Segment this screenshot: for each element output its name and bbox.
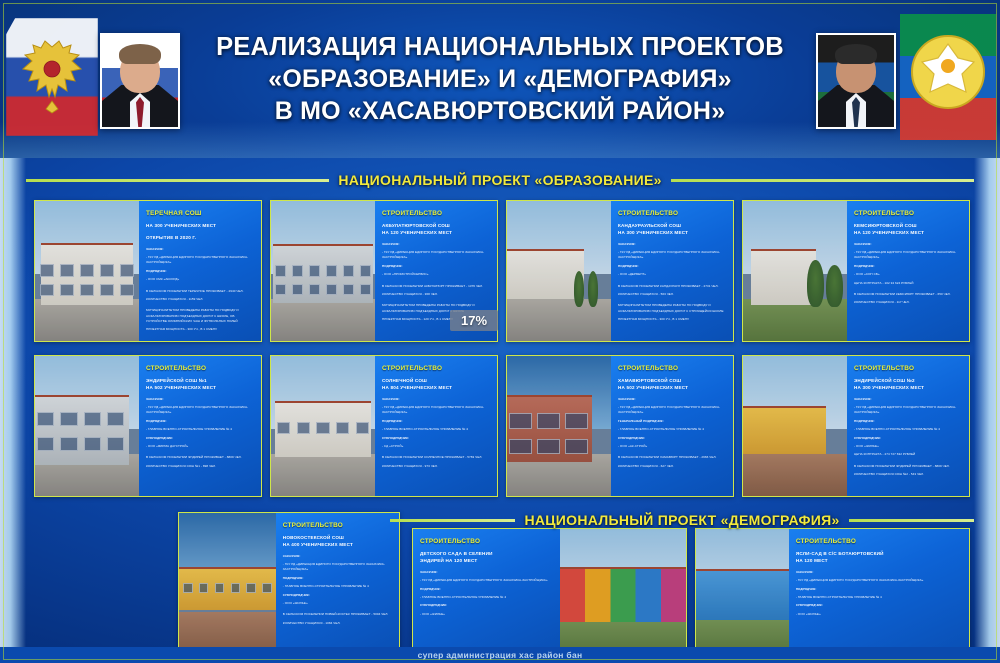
poster-header: РЕАЛИЗАЦИЯ НАЦИОНАЛЬНЫХ ПРОЕКТОВ «ОБРАЗО… [0, 0, 1000, 158]
value-customer: - ГКУ РД «ДИРЕКЦИЯ ЕДИНОГО ГОСУДАРСТВЕНН… [618, 250, 727, 260]
card-subtitle: КЕМСИЮРТОВСКОЙ СОШ НА 120 УЧЕНИЧЕСКИХ МЕ… [854, 223, 963, 237]
title-line-1: РЕАЛИЗАЦИЯ НАЦИОНАЛЬНЫХ ПРОЕКТОВ [200, 31, 800, 64]
value-subcontractor: - ООО «ЖИЛЬЕ» [420, 612, 554, 617]
value-contractor: - ГЛАВНОЕ ВОЕННО-СТРОИТЕЛЬНОЕ УПРАВЛЕНИЕ… [146, 427, 255, 432]
card-photo [696, 529, 789, 655]
value-customer: - ГКУ РД «ДИРЕКЦИЯ ЕДИНОГО ГОСУДАРСТВЕНН… [796, 578, 963, 583]
value-subcontractor: - ООО «ЖИЛЬЕ» [796, 612, 963, 617]
label-customer: ЗАКАЗЧИК: [420, 570, 554, 575]
footer-text: супер администрация хас район бан [418, 650, 583, 660]
card-title: СТРОИТЕЛЬСТВО [420, 537, 554, 547]
project-card-novokostekskaya[interactable]: СТРОИТЕЛЬСТВО НОВОКОСТЕКСКОЙ СОШ НА 400 … [178, 512, 400, 656]
value-capacity: ЦЕНА КОНТРАКТА - 102 34 624 РУБЛЕЙ [854, 281, 963, 286]
title-line-2: «ОБРАЗОВАНИЕ» И «ДЕМОГРАФИЯ» [200, 63, 800, 95]
value-contractor: - ГЛАВНОЕ ВОЕННО-СТРОИТЕЛЬНОЕ УПРАВЛЕНИЕ… [382, 427, 491, 432]
label-contractor: ПОДРЯДЧИК: [382, 419, 491, 424]
label-customer: ЗАКАЗЧИК: [146, 397, 255, 402]
label-contractor: ПОДРЯДЧИК: [283, 576, 393, 581]
card-title: СТРОИТЕЛЬСТВО [382, 364, 491, 374]
value-population: В СЕЛЬСКОМ ПОСЕЛЕНИИ ХАМАВЮРТ ПРОЖИВАЕТ … [618, 455, 727, 460]
value-contractor: - ООО СМК «АККОРД» [146, 277, 255, 282]
value-customer: - ГКУ РД «ДИРЕКЦИЯ ЕДИНОГО ГОСУДАРСТВЕНН… [283, 562, 393, 572]
label-contractor: ПОДРЯДЧИК: [854, 264, 963, 269]
card-title: СТРОИТЕЛЬСТВО [382, 209, 491, 219]
card-subtitle: НОВОКОСТЕКСКОЙ СОШ НА 400 УЧЕНИЧЕСКИХ МЕ… [283, 535, 393, 549]
value-contractor: - ООО «СОН СБ» [854, 272, 963, 277]
label-contractor: ПОДРЯДЧИК: [618, 264, 727, 269]
project-card-endireyskaya-2[interactable]: СТРОИТЕЛЬСТВО ЭНДИРЕЙСКОЙ СОШ №2 НА 300 … [742, 355, 970, 497]
card-info: СТРОИТЕЛЬСТВО СОЛНЕЧНОЙ СОШ НА 804 УЧЕНИ… [375, 356, 497, 496]
card-title: СТРОИТЕЛЬСТВО [618, 209, 727, 219]
card-photo [507, 356, 611, 496]
label-contractor: ПОДРЯДЧИК: [796, 587, 963, 592]
project-card-terechnaya[interactable]: ТЕРЕЧНАЯ СОШ НА 300 УЧЕНИЧЕСКИХ МЕСТ ОТК… [34, 200, 262, 342]
label-contractor: ПОДРЯДЧИК: [854, 419, 963, 424]
card-title: СТРОИТЕЛЬСТВО [618, 364, 727, 374]
label-general-contractor: ГЕНЕРАЛЬНЫЙ ПОДРЯДЧИК: [618, 419, 727, 424]
label-contractor: ПОДРЯДЧИК: [146, 419, 255, 424]
card-subtitle: ДЕТСКОГО САДА В СЕЛЕНИИ ЭНДИРЕЙ НА 120 М… [420, 551, 554, 565]
value-customer: - ГКУ РД «ДИРЕКЦИЯ ЕДИНОГО ГОСУДАРСТВЕНН… [146, 255, 255, 265]
card-photo [560, 529, 686, 655]
card-info: СТРОИТЕЛЬСТВО ЯСЛИ-САД В С/С БОТАЮРТОВСК… [789, 529, 969, 655]
card-info: СТРОИТЕЛЬСТВО НОВОКОСТЕКСКОЙ СОШ НА 400 … [276, 513, 399, 655]
card-photo [743, 201, 847, 341]
card-photo [271, 201, 375, 341]
value-customer: - ГКУ РД «ДИРЕКЦИЯ ЕДИНОГО ГОСУДАРСТВЕНН… [854, 250, 963, 260]
project-card-kindergarten-endirey[interactable]: СТРОИТЕЛЬСТВО ДЕТСКОГО САДА В СЕЛЕНИИ ЭН… [412, 528, 687, 656]
value-students: КОЛИЧЕСТВО УЧАЩИХСЯ СОШ №1 - 898 ЧЕЛ. [146, 464, 255, 469]
label-customer: ЗАКАЗЧИК: [854, 397, 963, 402]
card-info: ТЕРЕЧНАЯ СОШ НА 300 УЧЕНИЧЕСКИХ МЕСТ ОТК… [139, 201, 261, 341]
label-customer: ЗАКАЗЧИК: [796, 570, 963, 575]
card-body: ЗАКАЗЧИК: - ГКУ РД «ДИРЕКЦИЯ ЕДИНОГО ГОС… [283, 554, 393, 626]
value-customer: - ГКУ РД «ДИРЕКЦИЯ ЕДИНОГО ГОСУДАРСТВЕНН… [618, 405, 727, 415]
card-body: ЗАКАЗЧИК: - ГКУ РД «ДИРЕКЦИЯ ЕДИНОГО ГОС… [796, 570, 963, 617]
card-info: СТРОИТЕЛЬСТВО ДЕТСКОГО САДА В СЕЛЕНИИ ЭН… [413, 529, 560, 655]
project-card-solnechnaya[interactable]: СТРОИТЕЛЬСТВО СОЛНЕЧНОЙ СОШ НА 804 УЧЕНИ… [270, 355, 498, 497]
label-subcontractor: СУБПОДРЯДЧИК: [796, 603, 963, 608]
label-subcontractor: СУБПОДРЯДЧИК: [854, 436, 963, 441]
label-customer: ЗАКАЗЧИК: [382, 242, 491, 247]
label-customer: ЗАКАЗЧИК: [382, 397, 491, 402]
value-customer: - ГКУ РД «ДИРЕКЦИЯ ЕДИНОГО ГОСУДАРСТВЕНН… [382, 405, 491, 415]
banner-rule-left [390, 519, 515, 522]
value-contractor: - ООО «ДЕРБЕНТ» [618, 272, 727, 277]
card-row-3: СТРОИТЕЛЬСТВО НОВОКОСТЕКСКОЙ СОШ НА 400 … [178, 512, 400, 656]
value-customer: - ГКУ РД «ДИРЕКЦИЯ ЕДИНОГО ГОСУДАРСТВЕНН… [420, 578, 554, 583]
value-subcontractor: - ООО «ФИРМА ДАГСТРОЙ» [146, 444, 255, 449]
value-contractor: - ГЛАВНОЕ ВОЕННО-СТРОИТЕЛЬНОЕ УПРАВЛЕНИЕ… [618, 427, 727, 432]
card-info: СТРОИТЕЛЬСТВО КЕМСИЮРТОВСКОЙ СОШ НА 120 … [847, 201, 969, 341]
progress-badge-akbulatyurtovskaya: 17% [450, 310, 498, 331]
section-banner-demography: НАЦИОНАЛЬНЫЙ ПРОЕКТ «ДЕМОГРАФИЯ» [390, 510, 974, 530]
label-customer: ЗАКАЗЧИК: [854, 242, 963, 247]
card-info: СТРОИТЕЛЬСТВО ЭНДИРЕЙСКОЙ СОШ №1 НА 502 … [139, 356, 261, 496]
value-contractor: - ГЛАВНОЕ ВОЕННО-СТРОИТЕЛЬНОЕ УПРАВЛЕНИЕ… [283, 584, 393, 589]
card-subtitle: ЯСЛИ-САД В С/С БОТАЮРТОВСКИЙ НА 120 МЕСТ [796, 551, 963, 565]
value-subcontractor: - ООО «ЖИЛЬЕ» [283, 601, 393, 606]
value-students: КОЛИЧЕСТВО УЧАЩИХСЯ - 627 ЧЕЛ. [618, 464, 727, 469]
card-extra: ОТКРЫТИЕ В 2020 г. [146, 235, 255, 242]
card-photo [179, 513, 276, 655]
label-customer: ЗАКАЗЧИК: [146, 247, 255, 252]
label-subcontractor: СУБПОДРЯДЧИК: [420, 603, 554, 608]
portrait-melikov [816, 33, 896, 129]
card-body: ЗАКАЗЧИК: - ГКУ РД «ДИРЕКЦИЯ ЕДИНОГО ГОС… [618, 397, 727, 469]
poster-title: РЕАЛИЗАЦИЯ НАЦИОНАЛЬНЫХ ПРОЕКТОВ «ОБРАЗО… [200, 31, 800, 128]
dagestan-coat-of-arms-icon [900, 14, 996, 140]
card-subtitle: ЭНДИРЕЙСКОЙ СОШ №2 НА 300 УЧЕНИЧЕСКИХ МЕ… [854, 378, 963, 392]
project-card-endireyskaya-1[interactable]: СТРОИТЕЛЬСТВО ЭНДИРЕЙСКОЙ СОШ №1 НА 502 … [34, 355, 262, 497]
label-subcontractor: СУБПОДРЯДЧИК: [146, 436, 255, 441]
label-contractor: ПОДРЯДЧИК: [146, 269, 255, 274]
card-info: СТРОИТЕЛЬСТВО ХАМАВЮРТОВСКОЙ СОШ НА 502 … [611, 356, 733, 496]
value-customer: - ГКУ РД «ДИРЕКЦИЯ ЕДИНОГО ГОСУДАРСТВЕНН… [382, 250, 491, 260]
card-photo [35, 356, 139, 496]
card-title: СТРОИТЕЛЬСТВО [146, 364, 255, 374]
value-subcontractor: - СД «СТРОЙ» [382, 444, 491, 449]
value-students: КОЛИЧЕСТВО УЧАЩИХСЯ - 1084 ЧЕЛ. [283, 621, 393, 626]
label-customer: ЗАКАЗЧИК: [283, 554, 393, 559]
card-body: ЗАКАЗЧИК: - ГКУ РД «ДИРЕКЦИЯ ЕДИНОГО ГОС… [146, 397, 255, 469]
project-card-kemsiyurtovskaya[interactable]: СТРОИТЕЛЬСТВО КЕМСИЮРТОВСКОЙ СОШ НА 120 … [742, 200, 970, 342]
section-banner-education-label: НАЦИОНАЛЬНЫЙ ПРОЕКТ «ОБРАЗОВАНИЕ» [338, 172, 661, 188]
value-students: КОЛИЧЕСТВО УЧАЩИХСЯ - 563 ЧЕЛ. [618, 292, 727, 297]
card-subtitle: КАНДАУРАУЛЬСКОЙ СОШ НА 300 УЧЕНИЧЕСКИХ М… [618, 223, 727, 237]
card-row-4: СТРОИТЕЛЬСТВО ДЕТСКОГО САДА В СЕЛЕНИИ ЭН… [412, 528, 970, 656]
value-population: В СЕЛЬСКОМ ПОСЕЛЕНИИ СОЛНЕЧНОЕ ПРОЖИВАЕТ… [382, 455, 491, 460]
card-title: ТЕРЕЧНАЯ СОШ [146, 209, 255, 219]
dagestan-emblem-eagle-icon [900, 14, 996, 140]
value-capacity: ЦЕНА КОНТРАКТА - 274 727 632 РУБЛЕЙ [854, 452, 963, 457]
card-subtitle: ХАМАВЮРТОВСКОЙ СОШ НА 502 УЧЕНИЧЕСКИХ МЕ… [618, 378, 727, 392]
card-subtitle: АКБУЛАТЮРТОВСКОЙ СОШ НА 120 УЧЕНИЧЕСКИХ … [382, 223, 491, 237]
value-students: КОЛИЧЕСТВО УЧАЩИХСЯ - 973 ЧЕЛ. [382, 464, 491, 469]
card-photo [743, 356, 847, 496]
label-contractor: ПОДРЯДЧИК: [420, 587, 554, 592]
card-photo [35, 201, 139, 341]
value-students: КОЛИЧЕСТВО УЧАЩИХСЯ - 1159 ЧЕЛ. [146, 297, 255, 302]
card-body: ЗАКАЗЧИК: - ГКУ РД «ДИРЕКЦИЯ ЕДИНОГО ГОС… [146, 247, 255, 333]
poster-footer: супер администрация хас район бан [0, 647, 1000, 663]
value-subcontractor: - ООО «ЖИЛЬЕ» [854, 444, 963, 449]
value-customer: - ГКУ РД «ДИРЕКЦИЯ ЕДИНОГО ГОСУДАРСТВЕНН… [146, 405, 255, 415]
value-contractor: - ГЛАВНОЕ ВОЕННО-СТРОИТЕЛЬНОЕ УПРАВЛЕНИЕ… [420, 595, 554, 600]
card-info: СТРОИТЕЛЬСТВО КАНДАУРАУЛЬСКОЙ СОШ НА 300… [611, 201, 733, 341]
poster-root: РЕАЛИЗАЦИЯ НАЦИОНАЛЬНЫХ ПРОЕКТОВ «ОБРАЗО… [0, 0, 1000, 663]
value-population: В СЕЛЬСКОМ ПОСЕЛЕНИИ КАНДАУРАУЛ ПРОЖИВАЕ… [618, 284, 727, 289]
banner-rule-right [849, 519, 974, 522]
value-students: КОЛИЧЕСТВО УЧАЩИХСЯ СОШ №2 - 543 ЧЕЛ. [854, 472, 963, 477]
project-card-kandauraulskaya[interactable]: СТРОИТЕЛЬСТВО КАНДАУРАУЛЬСКОЙ СОШ НА 300… [506, 200, 734, 342]
label-subcontractor: СУБПОДРЯДЧИК: [618, 436, 727, 441]
label-customer: ЗАКАЗЧИК: [618, 242, 727, 247]
russian-federation-coat-of-arms-icon [6, 18, 98, 136]
banner-rule-right [671, 179, 974, 182]
card-photo [507, 201, 611, 341]
card-body: ЗАКАЗЧИК: - ГКУ РД «ДИРЕКЦИЯ ЕДИНОГО ГОС… [420, 570, 554, 617]
label-subcontractor: СУБПОДРЯДЧИК: [283, 593, 393, 598]
value-population: В СЕЛЬСКОМ ПОСЕЛЕНИИ ЭНДИРЕЙ ПРОЖИВАЕТ -… [146, 455, 255, 460]
value-population: В СЕЛЬСКОМ ПОСЕЛЕНИИ ЭНДИРЕЙ ПРОЖИВАЕТ -… [854, 464, 963, 469]
value-population: В СЕЛЬСКОМ ПОСЕЛЕНИИ НОВЫЙ-КОСТЕК ПРОЖИВ… [283, 612, 393, 617]
section-banner-education: НАЦИОНАЛЬНЫЙ ПРОЕКТ «ОБРАЗОВАНИЕ» [26, 170, 974, 190]
section-banner-demography-label: НАЦИОНАЛЬНЫЙ ПРОЕКТ «ДЕМОГРАФИЯ» [524, 512, 839, 528]
label-customer: ЗАКАЗЧИК: [618, 397, 727, 402]
banner-rule-left [26, 179, 329, 182]
card-info: СТРОИТЕЛЬСТВО ЭНДИРЕЙСКОЙ СОШ №2 НА 300 … [847, 356, 969, 496]
card-title: СТРОИТЕЛЬСТВО [854, 364, 963, 374]
card-body: ЗАКАЗЧИК: - ГКУ РД «ДИРЕКЦИЯ ЕДИНОГО ГОС… [854, 242, 963, 306]
value-population: В СЕЛЬСКОМ ПОСЕЛЕНИИ ТЕРЕЧНОЕ ПРОЖИВАЕТ … [146, 289, 255, 294]
project-card-khamavyurtovskaya[interactable]: СТРОИТЕЛЬСТВО ХАМАВЮРТОВСКОЙ СОШ НА 502 … [506, 355, 734, 497]
value-population: В СЕЛЬСКОМ ПОСЕЛЕНИИ АКБУЛАТЮРТ ПРОЖИВАЕ… [382, 284, 491, 289]
value-contractor: - ООО «ПРОМСТРОЙСЕРВИС» [382, 272, 491, 277]
card-row-1: ТЕРЕЧНАЯ СОШ НА 300 УЧЕНИЧЕСКИХ МЕСТ ОТК… [34, 200, 970, 342]
label-contractor: ПОДРЯДЧИК: [382, 264, 491, 269]
card-subtitle: НА 300 УЧЕНИЧЕСКИХ МЕСТ [146, 223, 255, 230]
project-card-nursery-botayurtovsky[interactable]: СТРОИТЕЛЬСТВО ЯСЛИ-САД В С/С БОТАЮРТОВСК… [695, 528, 970, 656]
value-contractor: - ГЛАВНОЕ ВОЕННО-СТРОИТЕЛЬНОЕ УПРАВЛЕНИЕ… [854, 427, 963, 432]
card-title: СТРОИТЕЛЬСТВО [854, 209, 963, 219]
card-photo [271, 356, 375, 496]
portrait-putin [100, 33, 180, 129]
value-capacity: ПРОЕКТНАЯ МОЩНОСТЬ - 300 УЧ., В 1 СМЕНУ [146, 327, 255, 332]
label-subcontractor: СУБПОДРЯДЧИК: [382, 436, 491, 441]
card-subtitle: СОЛНЕЧНОЙ СОШ НА 804 УЧЕНИЧЕСКИХ МЕСТ [382, 378, 491, 392]
card-subtitle: ЭНДИРЕЙСКОЙ СОШ №1 НА 502 УЧЕНИЧЕСКИХ МЕ… [146, 378, 255, 392]
card-body: ЗАКАЗЧИК: - ГКУ РД «ДИРЕКЦИЯ ЕДИНОГО ГОС… [382, 397, 491, 469]
title-line-3: В МО «ХАСАВЮРТОВСКИЙ РАЙОН» [200, 95, 800, 127]
value-students: КОЛИЧЕСТВО УЧАЩИХСЯ - 368 ЧЕЛ. [382, 292, 491, 297]
value-note: МУНИЦИПАЛИТЕТОМ ПРОВЕДЕНЫ РАБОТЫ ПО ПОДВ… [146, 308, 255, 324]
value-population: В СЕЛЬСКОМ ПОСЕЛЕНИИ КЕМСИЮРТ ПРОЖИВАЕТ … [854, 292, 963, 297]
value-contractor: - ГЛАВНОЕ ВОЕННО-СТРОИТЕЛЬНОЕ УПРАВЛЕНИЕ… [796, 595, 963, 600]
card-row-2: СТРОИТЕЛЬСТВО ЭНДИРЕЙСКОЙ СОШ №1 НА 502 … [34, 355, 970, 497]
value-customer: - ГКУ РД «ДИРЕКЦИЯ ЕДИНОГО ГОСУДАРСТВЕНН… [854, 405, 963, 415]
card-body: ЗАКАЗЧИК: - ГКУ РД «ДИРЕКЦИЯ ЕДИНОГО ГОС… [618, 242, 727, 323]
value-note: МУНИЦИПАЛИТЕТОМ ПРОВЕДЕНЫ РАБОТЫ ПО ПОДВ… [618, 303, 727, 313]
card-title: СТРОИТЕЛЬСТВО [796, 537, 963, 547]
value-students: КОЛИЧЕСТВО УЧАЩИХСЯ - 117 ЧЕЛ. [854, 300, 963, 305]
value-capacity: ПРОЕКТНАЯ МОЩНОСТЬ - 300 УЧ., В 1 СМЕНУ [618, 317, 727, 322]
card-title: СТРОИТЕЛЬСТВО [283, 521, 393, 531]
value-subcontractor: - ООО «АК-СТРОЙ» [618, 444, 727, 449]
card-body: ЗАКАЗЧИК: - ГКУ РД «ДИРЕКЦИЯ ЕДИНОГО ГОС… [854, 397, 963, 478]
double-headed-eagle-icon [19, 39, 85, 115]
